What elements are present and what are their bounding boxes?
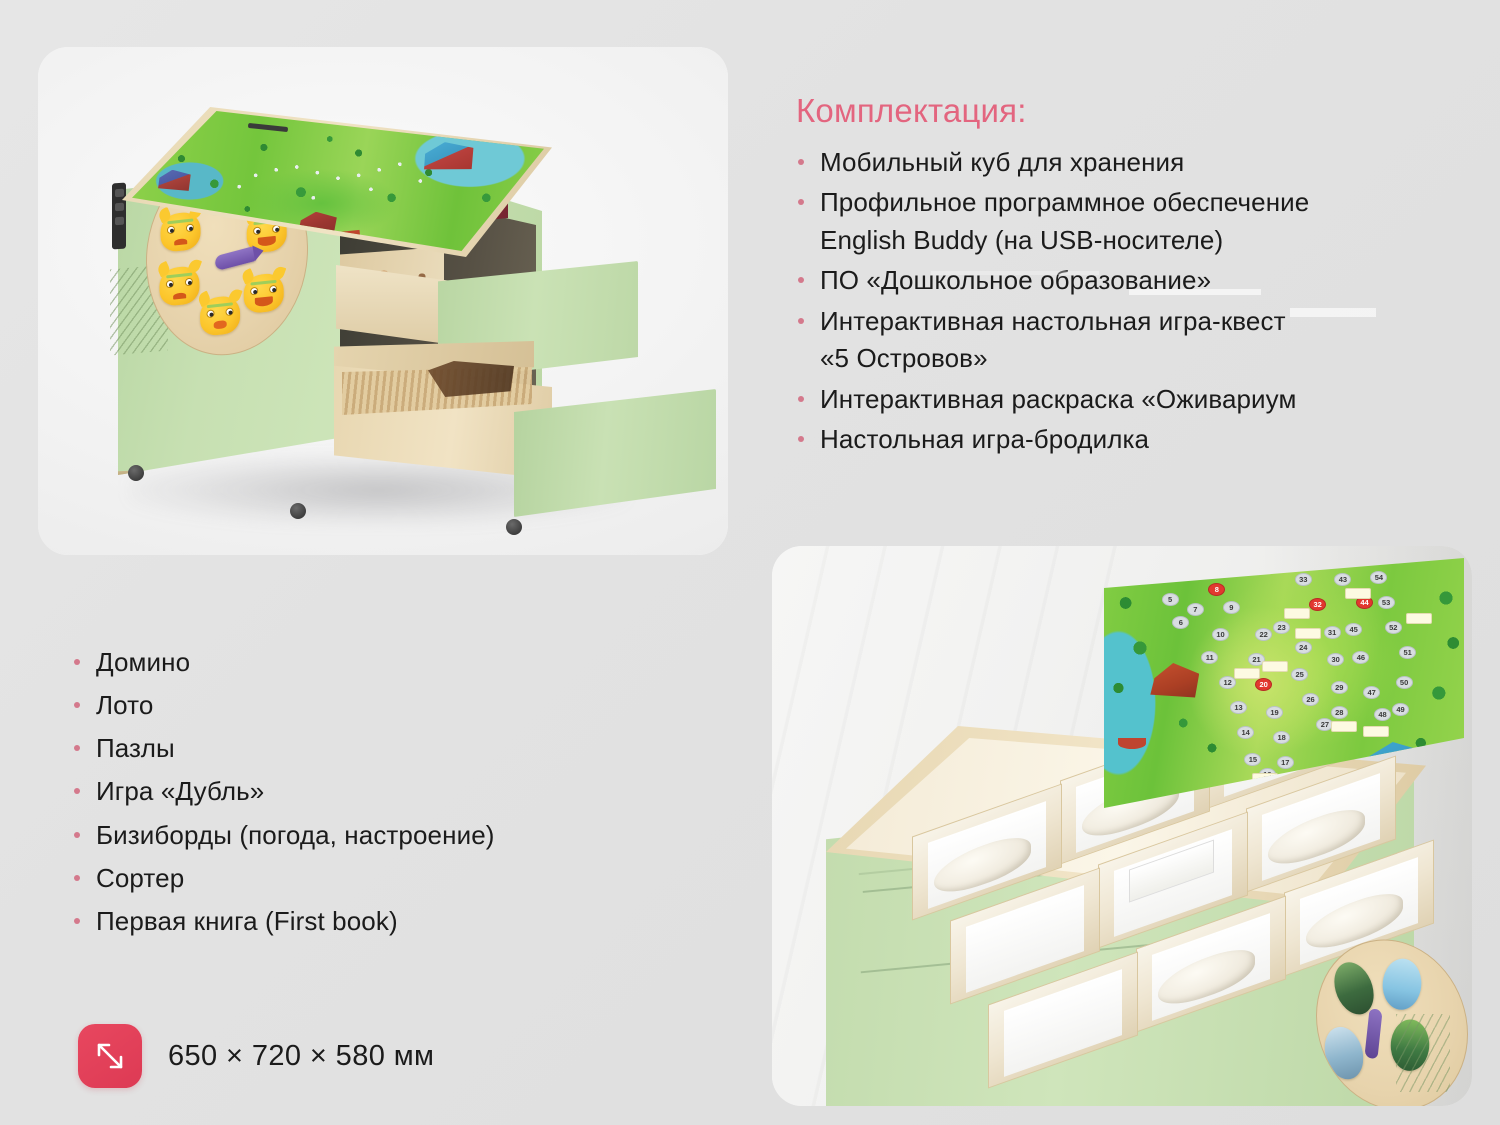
included-items-list: Домино Лото Пазлы Игра «Дубль» Бизиборды… — [72, 641, 672, 943]
castor-wheel — [506, 519, 522, 535]
board-number: 6 — [1172, 616, 1189, 629]
board-number: 7 — [1187, 603, 1204, 616]
spec-item-text: Настольная игра-бродилка — [820, 424, 1149, 454]
board-number: 47 — [1363, 686, 1380, 699]
spec-list-item: Мобильный куб для хранения — [796, 144, 1416, 181]
spec-item-continuation: English Buddy (на USB-носителе) — [820, 222, 1416, 259]
speaker-grille — [1396, 1014, 1450, 1092]
included-items-block: Домино Лото Пазлы Игра «Дубль» Бизиборды… — [72, 641, 672, 943]
board-number: 31 — [1324, 626, 1341, 639]
spec-item-continuation: «5 Островов» — [820, 340, 1416, 377]
spec-list-item: ПО «Дошкольное образование» — [796, 262, 1416, 299]
board-number: 24 — [1295, 641, 1312, 654]
spec-list-item: Профильное программное обеспечение Engli… — [796, 184, 1416, 259]
spec-title: Комплектация: — [796, 92, 1416, 130]
item-label: Лото — [96, 690, 153, 720]
board-number: 28 — [1331, 706, 1348, 719]
list-item: Пазлы — [72, 727, 672, 770]
spec-item-text: Профильное программное обеспечение — [820, 187, 1309, 217]
item-label: Игра «Дубль» — [96, 776, 264, 806]
board-number: 9 — [1223, 601, 1240, 614]
monster-face-worried — [159, 265, 200, 307]
product-slide: 5 6 7 8 9 10 11 12 13 14 15 16 17 18 19 … — [0, 0, 1500, 1125]
board-number: 46 — [1352, 651, 1369, 664]
monster-face-neutral — [200, 295, 241, 337]
retouch-smudge — [931, 271, 1099, 275]
board-number: 54 — [1370, 571, 1387, 584]
board-number: 33 — [1295, 573, 1312, 586]
board-number: 18 — [1273, 731, 1290, 744]
item-label: Первая книга (First book) — [96, 906, 398, 936]
board-number: 5 — [1162, 593, 1179, 606]
board-number: 26 — [1302, 693, 1319, 706]
board-task-tag — [1406, 613, 1432, 624]
monster-face-smiling — [243, 272, 284, 314]
list-item: Бизиборды (погода, настроение) — [72, 814, 672, 857]
list-item: Сортер — [72, 857, 672, 900]
item-label: Бизиборды (погода, настроение) — [96, 820, 495, 850]
item-label: Сортер — [96, 863, 184, 893]
board-number: 49 — [1392, 703, 1409, 716]
retouch-smudge — [1290, 308, 1376, 317]
resize-diagonal-icon — [78, 1024, 142, 1088]
board-number: 50 — [1396, 676, 1413, 689]
retouch-smudge — [1129, 289, 1261, 295]
board-task-tag — [1284, 608, 1310, 619]
spec-list-item: Интерактивная раскраска «Оживариум — [796, 381, 1416, 418]
spec-list-item: Настольная игра-бродилка — [796, 421, 1416, 458]
board-task-tag — [1345, 588, 1371, 599]
board-number: 29 — [1331, 681, 1348, 694]
board-number: 48 — [1374, 708, 1391, 721]
specification-block: Комплектация: Мобильный куб для хранения… — [796, 92, 1416, 462]
product-photo-cube-closed — [38, 47, 728, 555]
board-number: 19 — [1266, 706, 1283, 719]
board-task-tag — [1234, 668, 1260, 679]
board-number: 13 — [1230, 701, 1247, 714]
storage-cube-open-illustration: 5 6 7 8 9 10 11 12 13 14 15 16 17 18 19 … — [802, 556, 1462, 1106]
list-item: Игра «Дубль» — [72, 770, 672, 813]
board-number: 17 — [1277, 756, 1294, 769]
list-item: Домино — [72, 641, 672, 684]
storage-cube-illustration — [98, 89, 668, 529]
board-number: 51 — [1399, 646, 1416, 659]
board-number: 10 — [1212, 628, 1229, 641]
monster-face-sad — [160, 211, 201, 253]
board-task-tag — [1331, 721, 1357, 732]
board-number: 23 — [1273, 621, 1290, 634]
list-item: Первая книга (First book) — [72, 900, 672, 943]
spec-item-text: Интерактивная настольная игра-квест — [820, 306, 1286, 336]
castor-wheel — [290, 503, 306, 519]
spec-item-text: Мобильный куб для хранения — [820, 147, 1184, 177]
spec-item-text: Интерактивная раскраска «Оживариум — [820, 384, 1296, 414]
item-label: Пазлы — [96, 733, 175, 763]
board-number: 14 — [1237, 726, 1254, 739]
board-task-tag — [1295, 628, 1321, 639]
product-photo-cube-open: 5 6 7 8 9 10 11 12 13 14 15 16 17 18 19 … — [772, 546, 1472, 1106]
castor-wheel — [128, 465, 144, 481]
list-item: Лото — [72, 684, 672, 727]
ports-panel-icon — [112, 183, 126, 250]
board-number: 11 — [1201, 651, 1218, 664]
dimensions-row: 650 × 720 × 580 мм — [78, 1024, 434, 1088]
item-label: Домино — [96, 647, 190, 677]
weather-image-sky — [1378, 953, 1426, 1015]
board-task-tag — [1363, 726, 1389, 737]
spec-list: Мобильный куб для хранения Профильное пр… — [796, 144, 1416, 459]
board-number: 52 — [1385, 621, 1402, 634]
board-number: 53 — [1378, 596, 1395, 609]
spinner-arrow-icon — [1364, 1008, 1382, 1060]
board-task-tag — [1262, 661, 1288, 672]
dimensions-value: 650 × 720 × 580 мм — [168, 1040, 434, 1073]
